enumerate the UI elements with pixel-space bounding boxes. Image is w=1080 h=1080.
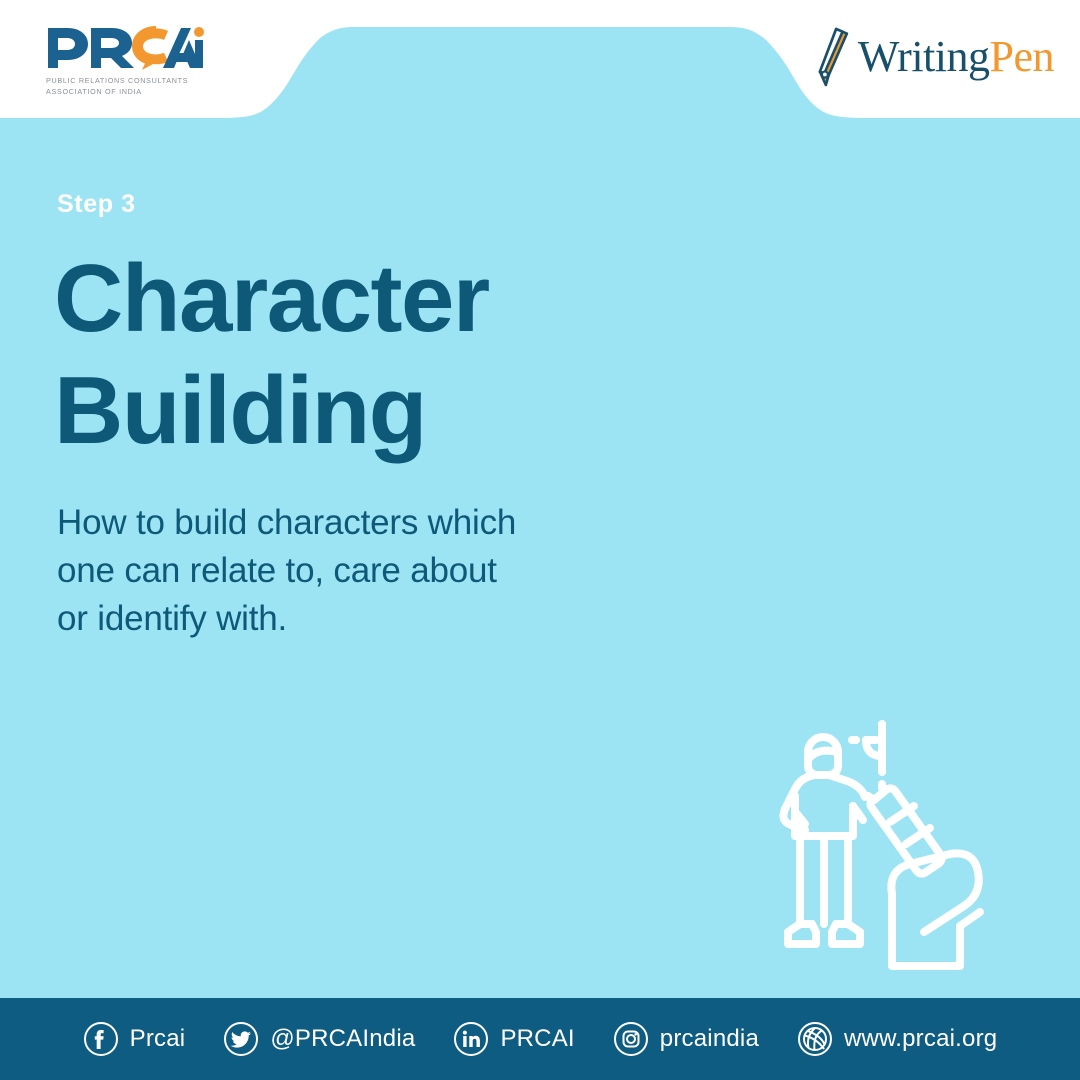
social-label-facebook: Prcai: [130, 1026, 186, 1052]
social-label-linkedin: PRCAI: [500, 1026, 574, 1052]
social-link-instagram[interactable]: prcaindia: [613, 1021, 759, 1057]
social-link-facebook[interactable]: Prcai: [83, 1021, 186, 1057]
person-with-pen-illustration: [770, 718, 1020, 980]
social-label-website: www.prcai.org: [844, 1026, 997, 1052]
fountain-pen-nib-icon: [800, 26, 862, 88]
writingpen-word-pen: Pen: [990, 32, 1055, 81]
instagram-icon: [613, 1021, 649, 1057]
footer-social-bar: Prcai @PRCAIndia PRCAI: [0, 998, 1080, 1080]
social-label-instagram: prcaindia: [660, 1026, 759, 1052]
writingpen-word-writing: Writing: [858, 32, 990, 81]
social-link-twitter[interactable]: @PRCAIndia: [223, 1021, 415, 1057]
globe-icon: [797, 1021, 833, 1057]
social-link-website[interactable]: www.prcai.org: [797, 1021, 997, 1057]
writingpen-logo[interactable]: WritingPen: [800, 26, 1054, 88]
prcai-logo[interactable]: PUBLIC RELATIONS CONSULTANTS ASSOCIATION…: [46, 24, 204, 97]
twitter-icon: [223, 1021, 259, 1057]
social-media-post: PUBLIC RELATIONS CONSULTANTS ASSOCIATION…: [0, 0, 1080, 1080]
writingpen-wordmark: WritingPen: [858, 35, 1054, 79]
step-label: Step 3: [57, 190, 136, 219]
page-title: Character Building: [54, 243, 489, 467]
prcai-logo-icon: [46, 24, 204, 70]
social-link-linkedin[interactable]: PRCAI: [453, 1021, 574, 1057]
facebook-icon: [83, 1021, 119, 1057]
linkedin-icon: [453, 1021, 489, 1057]
social-label-twitter: @PRCAIndia: [270, 1026, 415, 1052]
prcai-tagline: PUBLIC RELATIONS CONSULTANTS ASSOCIATION…: [46, 75, 204, 97]
page-subtitle: How to build characters which one can re…: [57, 499, 516, 643]
